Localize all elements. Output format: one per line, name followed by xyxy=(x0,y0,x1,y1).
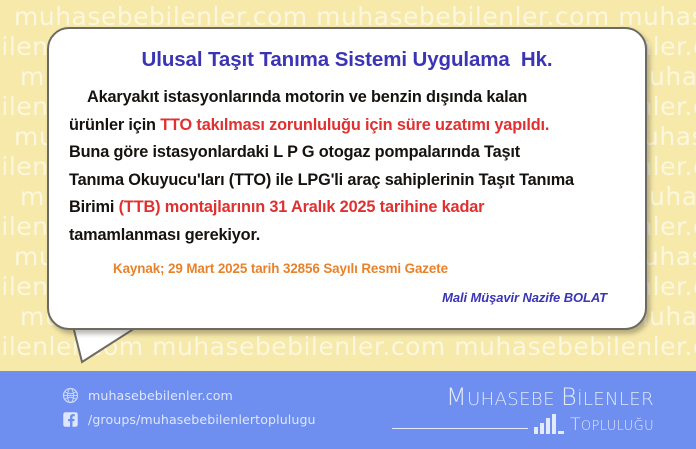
announcement-bubble: Ulusal Taşıt Tanıma Sistemi Uygulama Hk.… xyxy=(47,27,647,330)
body-line-text: Tanıma Okuyucu'ları (TTO) ile LPG'li ara… xyxy=(69,171,574,189)
footer-links: muhasebebilenler.com /groups/muhasebebil… xyxy=(62,387,316,428)
facebook-link[interactable]: /groups/muhasebebilenlertoplulugu xyxy=(62,411,316,428)
brand-logo-line1: MUHASEBE BİLENLER xyxy=(392,385,654,409)
author-signature: Mali Müşavir Nazife BOLAT xyxy=(69,290,625,305)
source-citation: Kaynak; 29 Mart 2025 tarih 32856 Sayılı … xyxy=(69,261,625,276)
footer-bar: muhasebebilenler.com /groups/muhasebebil… xyxy=(0,371,696,449)
body-line-highlight: TTO takılması zorunluluğu için süre uzat… xyxy=(160,116,549,134)
brand-ilenler: İLENLER xyxy=(577,389,654,410)
body-line: Tanıma Okuyucu'ları (TTO) ile LPG'li ara… xyxy=(69,167,625,195)
body-line-highlight: (TTB) montajlarının 31 Aralık 2025 tarih… xyxy=(119,198,485,216)
body-line: tamamlanması gerekiyor. xyxy=(69,222,625,250)
brand-b: B xyxy=(561,383,577,411)
watermark-text: muhasebebilenler.com muhasebebilenler.co… xyxy=(14,4,696,29)
body-line: Buna göre istasyonlardaki L P G otogaz p… xyxy=(69,139,625,167)
body-line: Akaryakıt istasyonlarında motorin ve ben… xyxy=(69,84,625,112)
facebook-link-label: /groups/muhasebebilenlertoplulugu xyxy=(88,412,316,427)
body-line-text: Birimi xyxy=(69,198,119,216)
brand-logo: MUHASEBE BİLENLER TOPLULUĞU xyxy=(392,385,654,443)
brand-logo-topluluk: TOPLULUĞU xyxy=(570,417,654,434)
body-line: ürünler için TTO takılması zorunluluğu i… xyxy=(69,112,625,140)
brand-logo-line2: TOPLULUĞU xyxy=(392,414,654,434)
brand-oplulugu: OPLULUĞU xyxy=(581,419,654,434)
website-link[interactable]: muhasebebilenler.com xyxy=(62,387,316,404)
body-line-text: ürünler için xyxy=(69,116,160,134)
globe-icon xyxy=(62,387,79,404)
facebook-icon xyxy=(62,411,79,428)
body-line-text: Akaryakıt istasyonlarında motorin ve ben… xyxy=(69,88,527,106)
website-link-label: muhasebebilenler.com xyxy=(88,388,233,403)
brand-divider xyxy=(392,428,528,429)
page-title: Ulusal Taşıt Tanıma Sistemi Uygulama Hk. xyxy=(69,48,625,72)
body-line: Birimi (TTB) montajlarının 31 Aralık 202… xyxy=(69,194,625,222)
brand-m: M xyxy=(446,383,467,411)
body-line-text: tamamlanması gerekiyor. xyxy=(69,226,260,244)
announcement-poster: muhasebebilenler.com muhasebebilenler.co… xyxy=(0,0,696,449)
brand-t: T xyxy=(570,415,581,435)
announcement-body: Akaryakıt istasyonlarında motorin ve ben… xyxy=(69,84,625,249)
bar-chart-icon xyxy=(534,414,564,434)
body-line-text: Buna göre istasyonlardaki L P G otogaz p… xyxy=(69,143,520,161)
brand-uhasebe: UHASEBE xyxy=(467,389,561,410)
